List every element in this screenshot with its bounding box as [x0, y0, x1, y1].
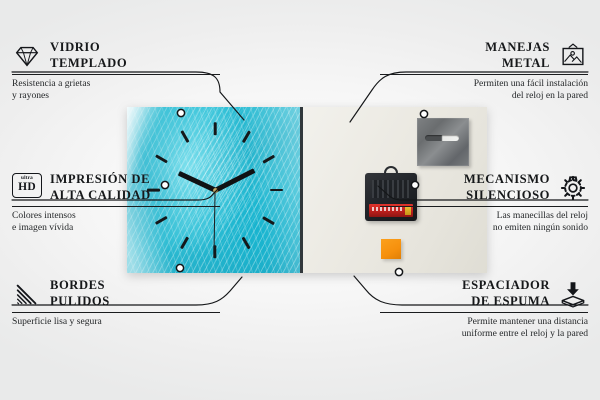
feature-divider-glass [12, 74, 220, 75]
feature-title-mechanism: MecanismoSilencioso [464, 172, 550, 203]
feature-title-line2: de Espuma [471, 294, 550, 308]
feature-divider-mechanism [380, 206, 588, 207]
feature-desc-print: Colores intensos e imagen vívida [12, 210, 220, 233]
feature-divider-print [12, 206, 220, 207]
feature-block-print: ultra HD Impresión deAlta Calidad Colore… [12, 172, 220, 233]
feature-divider-edges [12, 312, 220, 313]
feature-title-glass: VidrioTemplado [50, 40, 127, 71]
feature-desc-edges: Superficie lisa y segura [12, 316, 220, 328]
feature-title-line1: Impresión de [50, 172, 150, 186]
feature-title-foam: Espaciadorde Espuma [462, 278, 550, 309]
feature-head-edges: BordesPulidos [12, 278, 220, 309]
ultra-hd-icon-main-text: HD [18, 182, 36, 194]
feature-head-glass: VidrioTemplado [12, 40, 220, 71]
feature-divider-foam [380, 312, 588, 313]
feature-head-foam: Espaciadorde Espuma [380, 278, 588, 309]
diamond-icon [12, 41, 42, 71]
feature-block-glass: VidrioTemplado Resistencia a grietas y r… [12, 40, 220, 101]
infographic-canvas: VidrioTemplado Resistencia a grietas y r… [0, 0, 600, 400]
feature-title-print: Impresión deAlta Calidad [50, 172, 151, 203]
feature-title-line2: Pulidos [50, 294, 110, 308]
feature-block-mechanism: MecanismoSilencioso Las manecillas del r… [380, 172, 588, 233]
foam-spacer-icon [558, 279, 588, 309]
feature-title-hooks: ManejasMetal [485, 40, 550, 71]
metal-hanger-plate [417, 118, 469, 166]
feature-title-line1: Bordes [50, 278, 105, 292]
feature-title-line1: Espaciador [462, 278, 550, 292]
hanger-slot [425, 135, 459, 141]
feature-title-line2: Metal [502, 56, 550, 70]
feature-head-print: ultra HD Impresión deAlta Calidad [12, 172, 220, 203]
feature-block-hooks: ManejasMetal Permiten una fácil instalac… [380, 40, 588, 101]
feature-title-line2: Silencioso [466, 188, 550, 202]
feature-head-hooks: ManejasMetal [380, 40, 588, 71]
feature-desc-mechanism: Las manecillas del reloj no emiten ningú… [380, 210, 588, 233]
feature-title-line2: Templado [50, 56, 127, 70]
feature-head-mechanism: MecanismoSilencioso [380, 172, 588, 203]
feature-desc-foam: Permite mantener una distancia uniforme … [380, 316, 588, 339]
feature-title-line2: Alta Calidad [50, 188, 151, 202]
gear-icon [558, 173, 588, 203]
minute-hand [214, 168, 255, 192]
feature-block-edges: BordesPulidos Superficie lisa y segura [12, 278, 220, 328]
feature-divider-hooks [380, 74, 588, 75]
feature-title-line1: Vidrio [50, 40, 100, 54]
polished-edge-icon [12, 279, 42, 309]
feature-desc-glass: Resistencia a grietas y rayones [12, 78, 220, 101]
feature-desc-hooks: Permiten una fácil instalación del reloj… [380, 78, 588, 101]
feature-title-line1: Mecanismo [464, 172, 550, 186]
feature-title-edges: BordesPulidos [50, 278, 110, 309]
feature-title-line1: Manejas [485, 40, 550, 54]
ultra-hd-icon: ultra HD [12, 173, 42, 203]
picture-hanger-icon [558, 41, 588, 71]
foam-spacer-pad [381, 239, 401, 259]
feature-block-foam: Espaciadorde Espuma Permite mantener una… [380, 278, 588, 339]
